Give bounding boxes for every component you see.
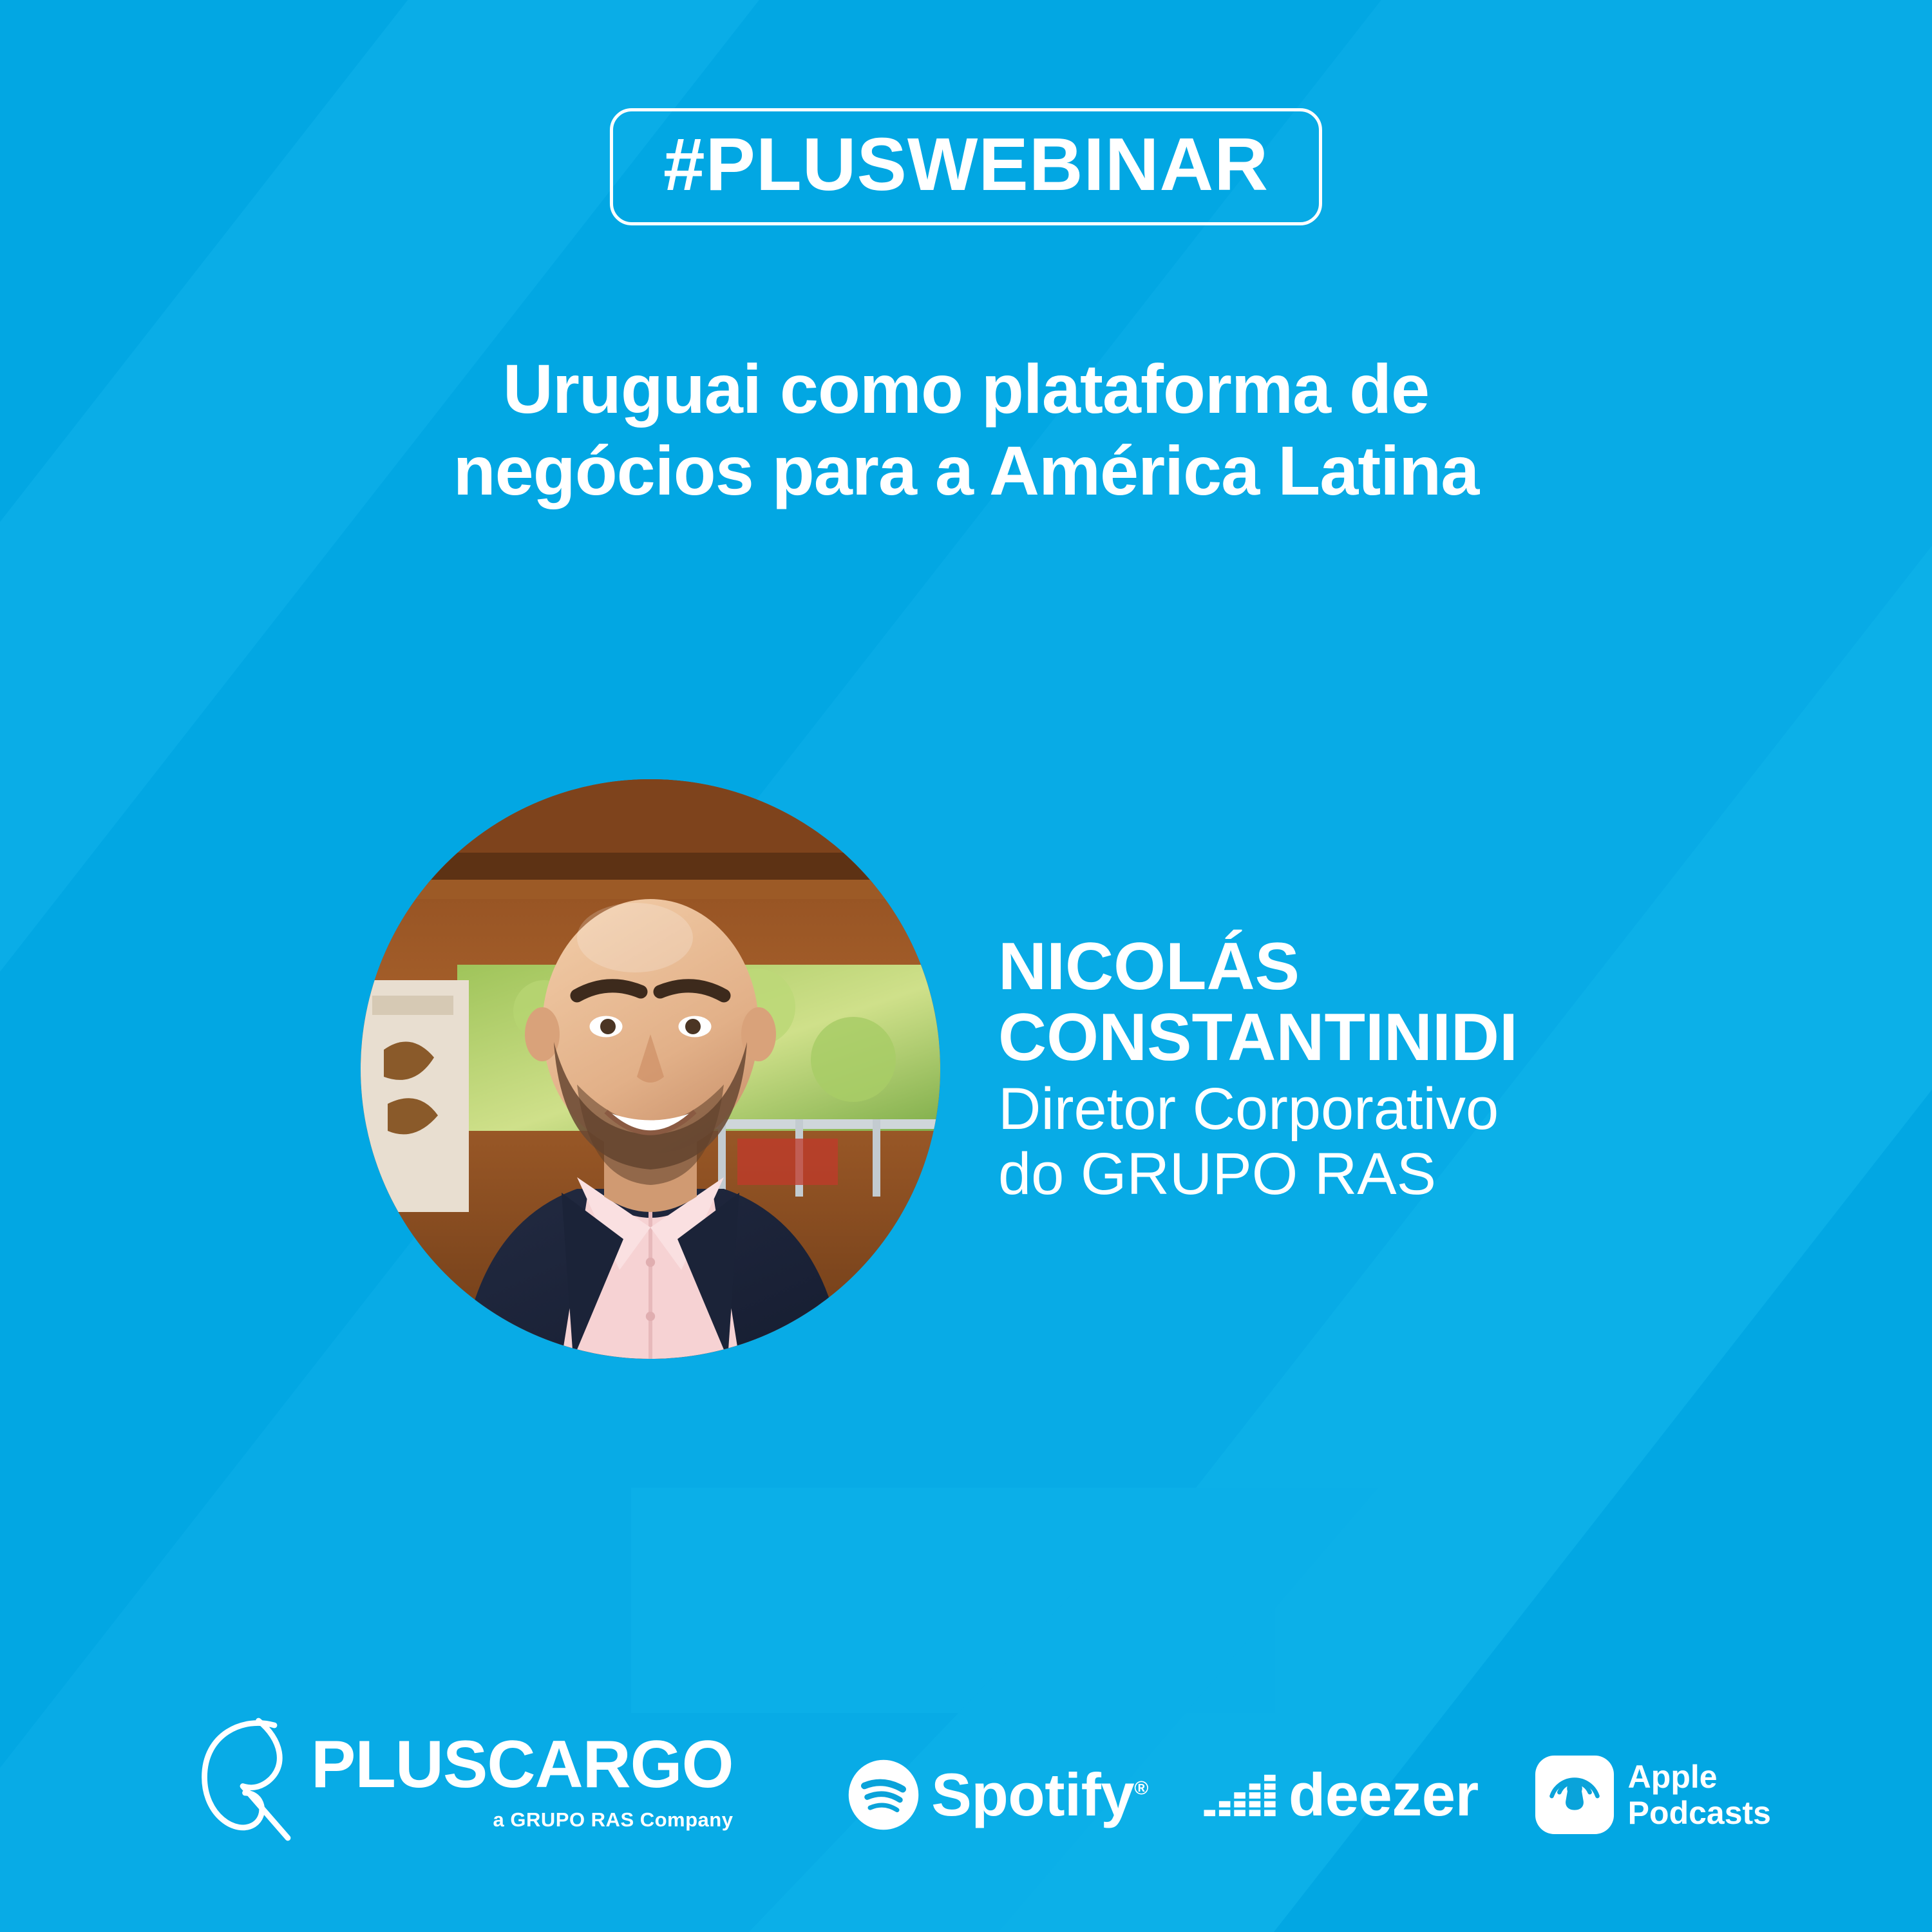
spotify-trademark: ® <box>1134 1778 1148 1799</box>
gr-monogram-icon <box>193 1712 306 1847</box>
deezer-equalizer-icon <box>1204 1770 1280 1820</box>
platform-spotify[interactable]: Spotify® <box>848 1759 1148 1831</box>
pluscargo-logo: PLUSCARGO a GRUPO RAS Company <box>193 1712 733 1847</box>
brand-wordmark: PLUSCARGO a GRUPO RAS Company <box>311 1712 733 1832</box>
platform-deezer[interactable]: deezer <box>1204 1760 1479 1830</box>
apple-podcasts-label-line-1: Apple <box>1628 1759 1771 1795</box>
platform-spotify-label: Spotify® <box>931 1760 1148 1830</box>
speaker-name-line-1: NICOLÁS <box>998 931 1518 1002</box>
hashtag-badge-label: #PLUSWEBINAR <box>663 127 1269 202</box>
speaker-role: Diretor Corporativo do GRUPO RAS <box>998 1077 1518 1207</box>
speaker-name: NICOLÁS CONSTANTINIDI <box>998 931 1518 1073</box>
platform-apple-podcasts[interactable]: Apple Podcasts <box>1534 1754 1771 1835</box>
speaker-section: NICOLÁS CONSTANTINIDI Diretor Corporativ… <box>0 763 1932 1375</box>
webinar-poster: #PLUSWEBINAR Uruguai como plataforma de … <box>0 0 1932 1932</box>
brand-name: PLUSCARGO <box>311 1731 733 1798</box>
speaker-role-line-2: do GRUPO RAS <box>998 1142 1518 1207</box>
brand-tagline: a GRUPO RAS Company <box>493 1808 734 1832</box>
hashtag-badge: #PLUSWEBINAR <box>610 108 1322 225</box>
podcast-platforms: Spotify® <box>848 1754 1771 1835</box>
page-title: Uruguai como plataforma de negócios para… <box>0 348 1932 512</box>
spotify-icon <box>848 1759 920 1831</box>
speaker-role-line-1: Diretor Corporativo <box>998 1077 1518 1142</box>
apple-podcasts-icon <box>1534 1754 1615 1835</box>
title-line-1: Uruguai como plataforma de <box>193 348 1739 430</box>
platform-deezer-label: deezer <box>1289 1760 1479 1830</box>
speaker-avatar <box>361 779 940 1359</box>
platform-apple-podcasts-label: Apple Podcasts <box>1628 1759 1771 1831</box>
speaker-details: NICOLÁS CONSTANTINIDI Diretor Corporativ… <box>998 931 1518 1207</box>
title-line-2: negócios para a América Latina <box>193 430 1739 511</box>
speaker-name-line-2: CONSTANTINIDI <box>998 1002 1518 1073</box>
apple-podcasts-label-line-2: Podcasts <box>1628 1795 1771 1831</box>
